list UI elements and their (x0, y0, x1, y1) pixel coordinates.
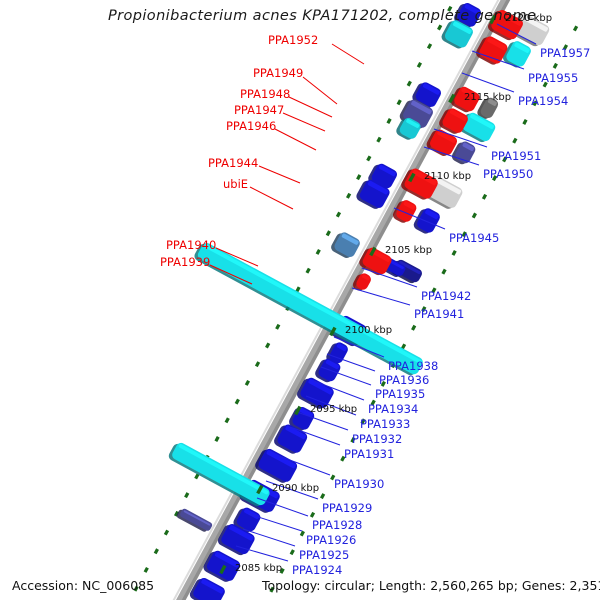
scale-label-2090-kbp: 2090 kbp (272, 483, 319, 495)
gene-label-ppa1955[interactable]: PPA1955 (528, 73, 578, 85)
scale-label-2120-kbp: 2120 kbp (505, 13, 552, 25)
gene-label-ppa1946[interactable]: PPA1946 (226, 121, 276, 133)
scale-label-2115-kbp: 2115 kbp (464, 92, 511, 104)
gene-label-ppa1957[interactable]: PPA1957 (540, 48, 590, 60)
scale-label-2095-kbp: 2095 kbp (310, 404, 357, 416)
page-title: Propionibacterium acnes KPA171202, compl… (108, 8, 536, 24)
genome-summary-text: Topology: circular; Length: 2,560,265 bp… (262, 578, 600, 593)
accession-text: Accession: NC_006085 (12, 578, 154, 593)
scale-label-2100-kbp: 2100 kbp (345, 325, 392, 337)
gene-label-ppa1924[interactable]: PPA1924 (292, 565, 342, 577)
scale-label-2105-kbp: 2105 kbp (385, 245, 432, 257)
scale-label-2110-kbp: 2110 kbp (424, 171, 471, 183)
gene-label-ppa1939[interactable]: PPA1939 (160, 257, 210, 269)
gene-label-ppa1944[interactable]: PPA1944 (208, 158, 258, 170)
gene-label-ppa1950[interactable]: PPA1950 (483, 169, 533, 181)
gene-label-ppa1932[interactable]: PPA1932 (352, 434, 402, 446)
gene-label-ppa1934[interactable]: PPA1934 (368, 404, 418, 416)
gene-label-ppa1930[interactable]: PPA1930 (334, 479, 384, 491)
gene-label-ppa1947[interactable]: PPA1947 (234, 105, 284, 117)
gene-label-ppa1954[interactable]: PPA1954 (518, 96, 568, 108)
genome-map-canvas: Propionibacterium acnes KPA171202, compl… (0, 0, 600, 600)
gene-label-ppa1928[interactable]: PPA1928 (312, 520, 362, 532)
gene-label-ppa1941[interactable]: PPA1941 (414, 309, 464, 321)
gene-label-ppa1940[interactable]: PPA1940 (166, 240, 216, 252)
gene-label-ppa1942[interactable]: PPA1942 (421, 291, 471, 303)
gene-label-ppa1949[interactable]: PPA1949 (253, 68, 303, 80)
gene-label-ppa1951[interactable]: PPA1951 (491, 151, 541, 163)
gene-label-ppa1948[interactable]: PPA1948 (240, 89, 290, 101)
gene-label-ppa1929[interactable]: PPA1929 (322, 503, 372, 515)
gene-label-ppa1936[interactable]: PPA1936 (379, 375, 429, 387)
gene-label-ppa1926[interactable]: PPA1926 (306, 535, 356, 547)
scale-label-2085-kbp: 2085 kbp (235, 563, 282, 575)
gene-label-ppa1945[interactable]: PPA1945 (449, 233, 499, 245)
gene-label-ppa1938[interactable]: PPA1938 (388, 361, 438, 373)
gene-label-ppa1931[interactable]: PPA1931 (344, 449, 394, 461)
genome-map-svg (0, 0, 600, 600)
gene-label-ppa1952[interactable]: PPA1952 (268, 35, 318, 47)
gene-label-ppa1933[interactable]: PPA1933 (360, 419, 410, 431)
gene-label-ubie[interactable]: ubiE (223, 179, 248, 191)
gene-label-ppa1935[interactable]: PPA1935 (375, 389, 425, 401)
gene-label-ppa1925[interactable]: PPA1925 (299, 550, 349, 562)
